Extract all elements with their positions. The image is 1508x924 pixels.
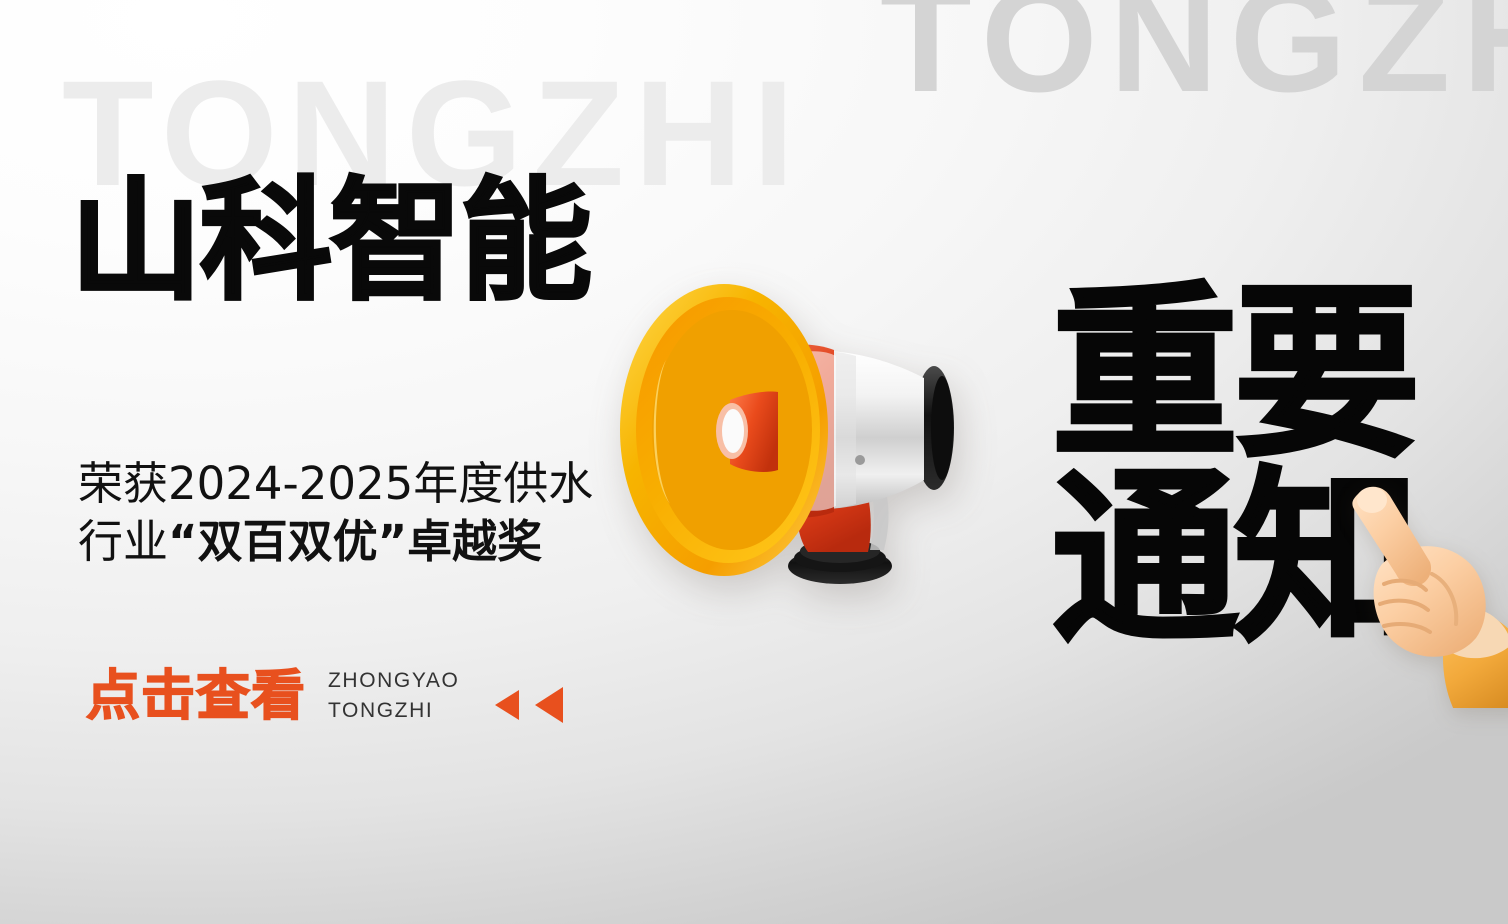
award-line-2-emphasis: “双百双优” (168, 515, 407, 568)
promo-banner: TONGZHI TONGZHI 山科智能 荣获2024-2025年度供水 行业“… (0, 0, 1508, 924)
award-line-2: 行业“双百双优”卓越奖 (78, 513, 638, 571)
megaphone-illustration (612, 268, 1012, 608)
megaphone-driver (722, 409, 744, 453)
hand-fingertip (1357, 487, 1387, 513)
award-line-1: 荣获2024-2025年度供水 (78, 455, 638, 513)
award-line-2-suffix: 卓越奖 (407, 515, 542, 568)
cta-pinyin-line-1: ZHONGYAO (328, 669, 459, 692)
award-subtitle: 荣获2024-2025年度供水 行业“双百双优”卓越奖 (78, 455, 638, 570)
cta-pinyin: ZHONGYAO TONGZHI (328, 666, 459, 727)
megaphone-screw (855, 455, 865, 465)
pointing-hand-illustration (1336, 478, 1508, 708)
triangle-left-icon-2[interactable] (535, 687, 563, 723)
award-line-2-prefix: 行业 (78, 515, 168, 568)
triangle-left-icon-1[interactable] (495, 690, 519, 720)
cta-pinyin-line-2: TONGZHI (328, 699, 433, 722)
watermark-top-right: TONGZHI (880, 0, 1508, 114)
cta-label[interactable]: 点击查看 (86, 669, 306, 723)
notice-line-1: 重要 (1052, 288, 1416, 459)
cta-row[interactable]: 点击查看 ZHONGYAO TONGZHI (86, 666, 563, 727)
cta-arrows[interactable] (495, 669, 563, 723)
